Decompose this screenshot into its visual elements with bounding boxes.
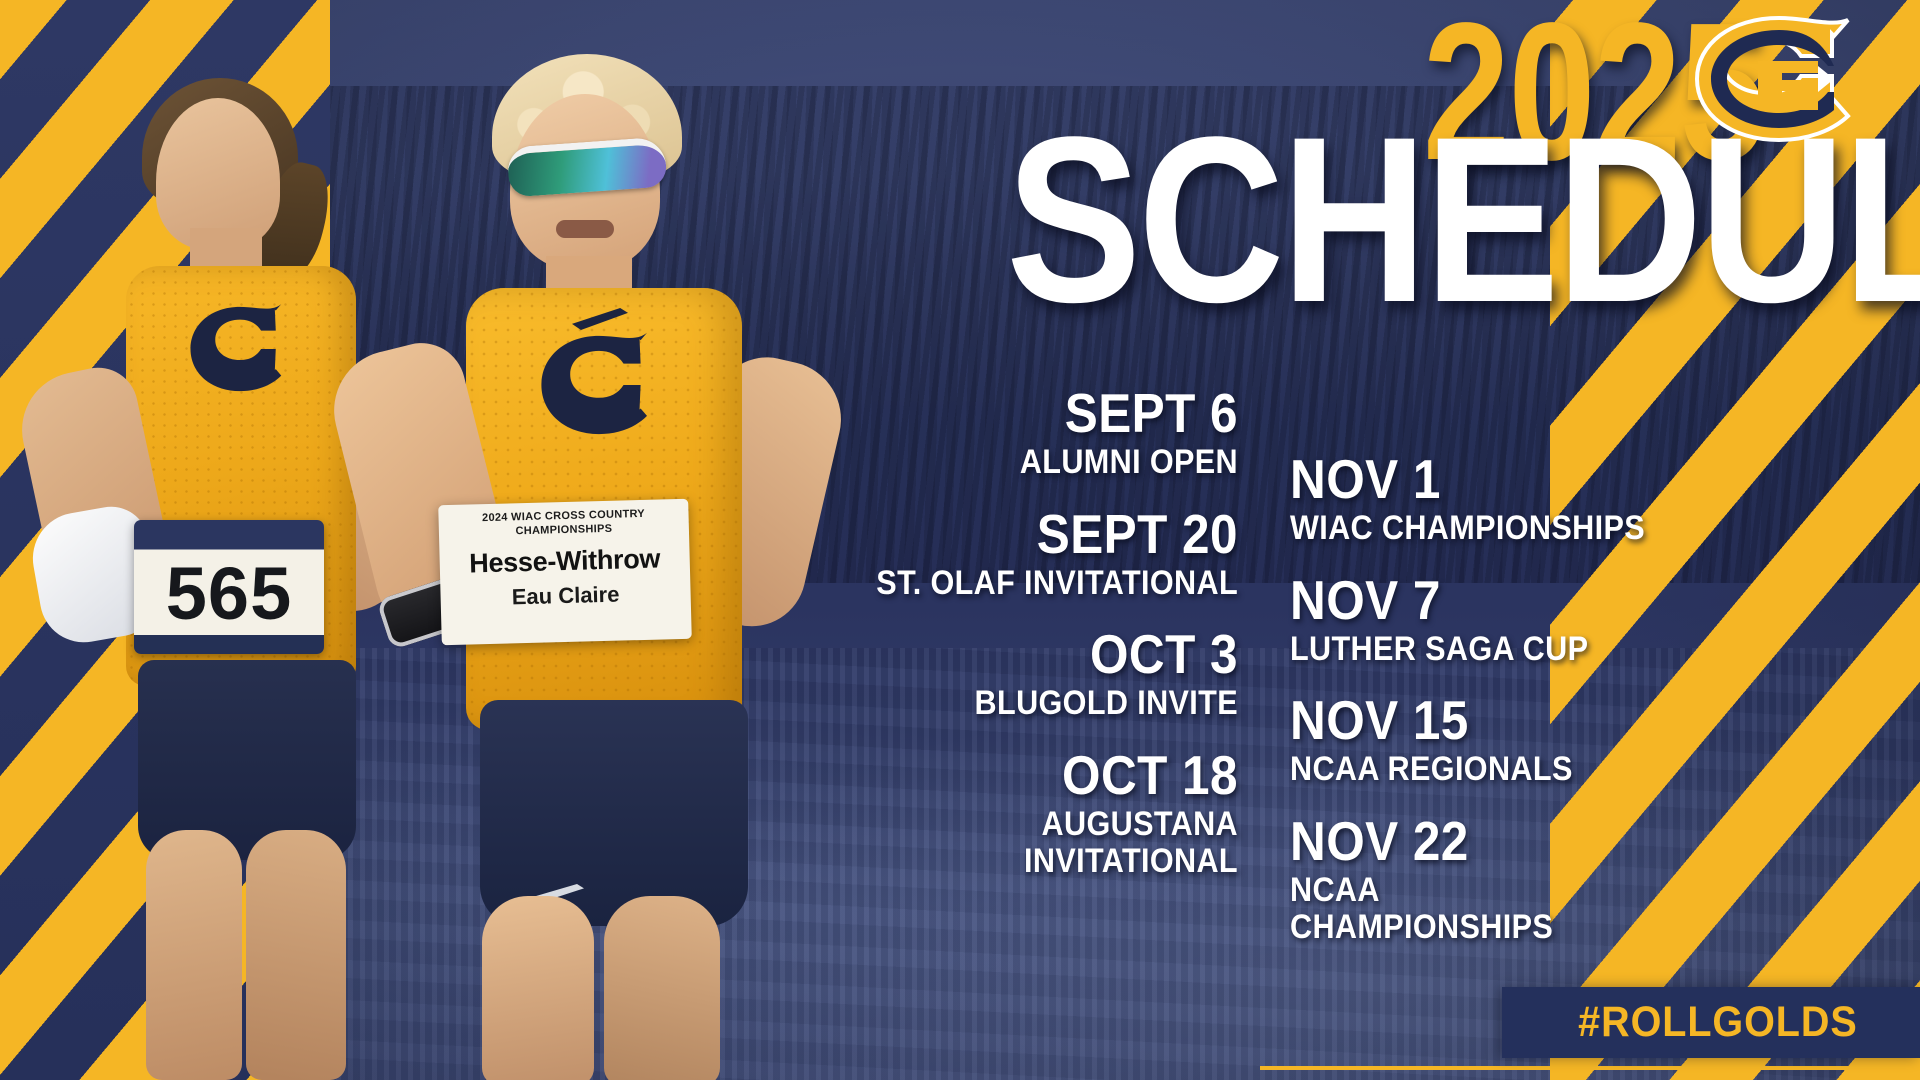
runner-left-leg <box>146 830 242 1080</box>
runner-right-leg <box>604 896 720 1080</box>
event-date: NOV 7 <box>1290 573 1650 628</box>
uw-eau-claire-ec-logo-icon <box>1684 14 1874 144</box>
hashtag-banner: #ROLLGOLDS <box>1502 987 1920 1058</box>
event-title: ST. OLAF INVITATIONAL <box>860 565 1238 602</box>
schedule-event: NOV 22 NCAA CHAMPIONSHIPS <box>1290 814 1690 945</box>
event-date: NOV 22 <box>1290 814 1650 869</box>
bib-team-name: Eau Claire <box>446 579 685 611</box>
runner-shorts <box>480 700 748 926</box>
schedule-event: NOV 15 NCAA REGIONALS <box>1290 693 1690 788</box>
event-date: SEPT 20 <box>860 507 1238 562</box>
runner-mouth <box>556 220 614 238</box>
schedule-event: NOV 7 LUTHER SAGA CUP <box>1290 573 1690 668</box>
event-date: OCT 18 <box>860 748 1238 803</box>
event-title: ALUMNI OPEN <box>860 444 1238 481</box>
event-date: OCT 3 <box>860 627 1238 682</box>
schedule-poster: 565 2024 WIAC CROSS COUNTRY CHAMPIONSHIP… <box>0 0 1920 1080</box>
schedule-event: NOV 1 WIAC CHAMPIONSHIPS <box>1290 452 1690 547</box>
schedule-event: SEPT 20 ST. OLAF INVITATIONAL <box>818 507 1238 602</box>
runner-left-leg <box>482 896 594 1080</box>
event-date: NOV 1 <box>1290 452 1650 507</box>
schedule-column-right: NOV 1 WIAC CHAMPIONSHIPS NOV 7 LUTHER SA… <box>1290 452 1690 946</box>
event-date: NOV 15 <box>1290 693 1650 748</box>
event-title: AUGUSTANA INVITATIONAL <box>860 806 1238 879</box>
event-title: BLUGOLD INVITE <box>860 685 1238 722</box>
bib-athlete-name: Hesse-Withrow <box>445 542 684 579</box>
schedule-event: OCT 18 AUGUSTANA INVITATIONAL <box>818 748 1238 879</box>
runner-race-bib: 565 <box>134 520 324 654</box>
event-date: SEPT 6 <box>860 386 1238 441</box>
jersey-ec-logo-icon <box>185 302 295 396</box>
event-title: NCAA REGIONALS <box>1290 751 1650 788</box>
schedule-event: OCT 3 BLUGOLD INVITE <box>818 627 1238 722</box>
runner-bib-number: 565 <box>166 551 292 636</box>
runner-shorts <box>138 660 356 860</box>
event-title: WIAC CHAMPIONSHIPS <box>1290 510 1650 547</box>
runner-race-bib: 2024 WIAC CROSS COUNTRY CHAMPIONSHIPS He… <box>438 499 692 645</box>
schedule-event: SEPT 6 ALUMNI OPEN <box>818 386 1238 481</box>
hashtag-underline-rule <box>1260 1066 1920 1070</box>
jersey-ec-logo-icon <box>535 330 663 440</box>
schedule-column-left: SEPT 6 ALUMNI OPEN SEPT 20 ST. OLAF INVI… <box>818 386 1238 880</box>
hashtag-text: #ROLLGOLDS <box>1578 998 1858 1047</box>
male-runner-cutout: 2024 WIAC CROSS COUNTRY CHAMPIONSHIPS He… <box>330 30 890 1080</box>
event-title: NCAA CHAMPIONSHIPS <box>1290 872 1650 945</box>
event-title: LUTHER SAGA CUP <box>1290 631 1650 668</box>
